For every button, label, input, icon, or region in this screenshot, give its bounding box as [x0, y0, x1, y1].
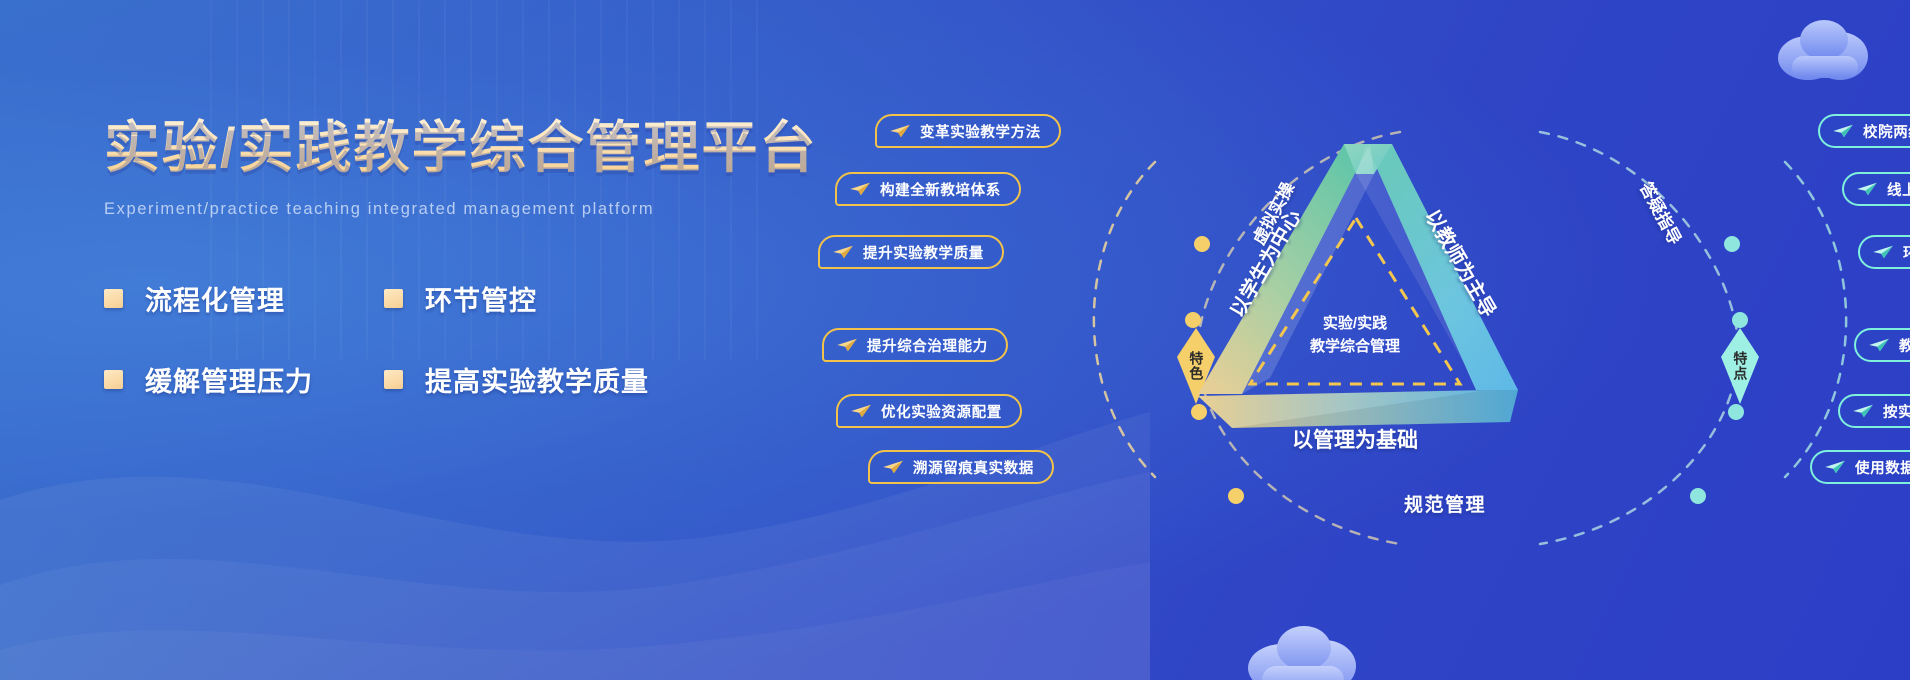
paper-plane-icon	[1852, 403, 1874, 419]
banner-stage: 实验/实践教学综合管理平台 Experiment/practice teachi…	[0, 0, 1910, 680]
triangle-label-bottom: 以管理为基础	[1292, 424, 1418, 454]
triangle-core-text: 实验/实践 教学综合管理	[1310, 312, 1400, 359]
left-pill-1[interactable]: 变革实验教学方法	[875, 114, 1061, 148]
core-line-1: 实验/实践	[1310, 312, 1400, 335]
right-pill-3[interactable]: 环节流程智能管控	[1858, 235, 1910, 269]
right-pill-label: 教学任务智能获取	[1899, 335, 1910, 356]
left-pill-label: 提升综合治理能力	[867, 335, 988, 356]
bullet-square-icon	[104, 289, 123, 308]
page-title: 实验/实践教学综合管理平台	[104, 118, 824, 178]
feature-bullet-label: 流程化管理	[145, 279, 285, 318]
left-pill-4[interactable]: 提升综合治理能力	[822, 328, 1008, 362]
right-pill-1[interactable]: 校院两级智能架构	[1818, 114, 1910, 148]
right-pill-6[interactable]: 使用数据智能采集	[1810, 450, 1910, 484]
bullet-square-icon	[384, 289, 403, 308]
feature-bullet-label: 提高实验教学质量	[425, 360, 649, 399]
bullet-square-icon	[384, 370, 403, 389]
badge-characteristic-right: 特点	[1721, 328, 1759, 404]
paper-plane-icon	[1832, 123, 1854, 139]
feature-bullets: 流程化管理 环节管控 缓解管理压力 提高实验教学质量	[104, 279, 824, 399]
right-pill-4[interactable]: 教学任务智能获取	[1854, 328, 1910, 362]
left-pill-6[interactable]: 溯源留痕真实数据	[868, 450, 1054, 484]
feature-bullet: 提高实验教学质量	[384, 360, 824, 399]
core-line-2: 教学综合管理	[1310, 335, 1400, 358]
paper-plane-icon	[1856, 181, 1878, 197]
left-pill-label: 优化实验资源配置	[881, 401, 1002, 422]
right-pill-label: 线上线下联动运行	[1887, 179, 1910, 200]
concept-diagram: 特色 特点 变革实验教学方法 构建全新教培体系 提升实验教学质量	[980, 92, 1910, 592]
page-subtitle: Experiment/practice teaching integrated …	[104, 200, 824, 219]
feature-bullet-label: 环节管控	[425, 279, 537, 318]
left-pill-label: 变革实验教学方法	[920, 121, 1041, 142]
paper-plane-icon	[850, 403, 872, 419]
paper-plane-icon	[832, 244, 854, 260]
badge-label: 特色	[1189, 351, 1204, 381]
right-pill-label: 按实验项目选排课	[1883, 401, 1910, 422]
right-pill-5[interactable]: 按实验项目选排课	[1838, 394, 1910, 428]
left-pill-label: 构建全新教培体系	[880, 179, 1001, 200]
left-pill-3[interactable]: 提升实验教学质量	[818, 235, 1004, 269]
feature-bullet-label: 缓解管理压力	[145, 360, 313, 399]
paper-plane-icon	[836, 337, 858, 353]
badge-label: 特点	[1733, 351, 1748, 381]
paper-plane-icon	[1824, 459, 1846, 475]
left-pill-5[interactable]: 优化实验资源配置	[836, 394, 1022, 428]
bullet-square-icon	[104, 370, 123, 389]
right-pill-label: 环节流程智能管控	[1903, 242, 1910, 263]
feature-bullet: 环节管控	[384, 279, 824, 318]
feature-bullet: 流程化管理	[104, 279, 384, 318]
paper-plane-icon	[889, 123, 911, 139]
paper-plane-icon	[849, 181, 871, 197]
paper-plane-icon	[1868, 337, 1890, 353]
cloud-icon	[1768, 14, 1888, 86]
right-pill-2[interactable]: 线上线下联动运行	[1842, 172, 1910, 206]
cloud-icon	[1232, 616, 1382, 680]
left-pill-label: 溯源留痕真实数据	[913, 457, 1034, 478]
triangle-graphic: 以学生为中心 以教师为主导 以管理为基础 实验/实践 教学综合管理	[1170, 122, 1540, 452]
feature-bullet: 缓解管理压力	[104, 360, 384, 399]
right-pill-label: 校院两级智能架构	[1863, 121, 1910, 142]
right-pill-label: 使用数据智能采集	[1855, 457, 1910, 478]
paper-plane-icon	[882, 459, 904, 475]
diagram-caption: 规范管理	[1404, 490, 1486, 517]
left-pill-2[interactable]: 构建全新教培体系	[835, 172, 1021, 206]
paper-plane-icon	[1872, 244, 1894, 260]
hero-copy: 实验/实践教学综合管理平台 Experiment/practice teachi…	[104, 118, 824, 399]
left-pill-label: 提升实验教学质量	[863, 242, 984, 263]
